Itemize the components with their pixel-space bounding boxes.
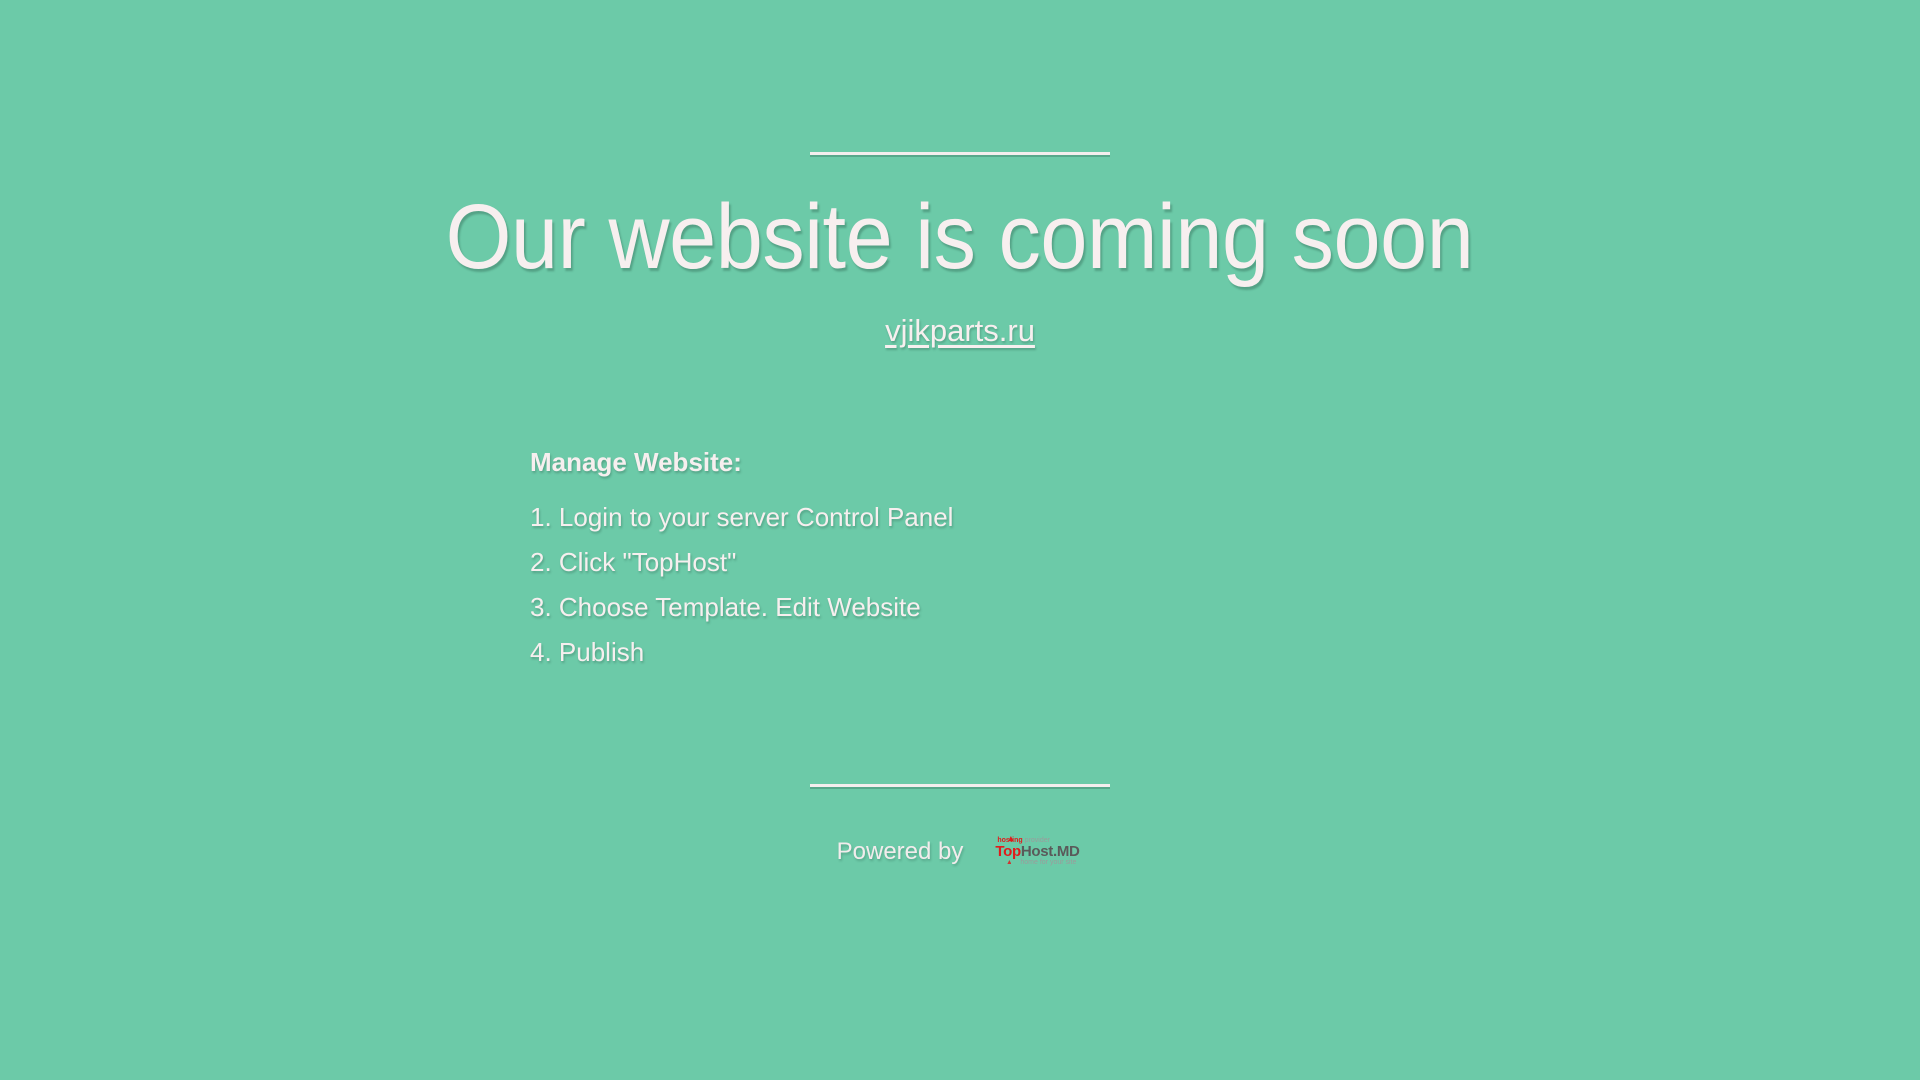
logo-wordmark-host: Host.MD xyxy=(1021,843,1080,860)
tophost-logo[interactable]: hostingprovider TopHost.MD home for your… xyxy=(991,835,1083,869)
divider-bottom xyxy=(810,784,1110,787)
list-item: 4. Publish xyxy=(530,637,953,668)
list-item: 3. Choose Template. Edit Website xyxy=(530,592,953,623)
logo-tagline-bottom: home for your site xyxy=(1020,859,1076,867)
page-title: Our website is coming soon xyxy=(446,191,1474,283)
footer: Powered by hostingprovider TopHost.MD ho… xyxy=(837,835,1084,869)
instructions-title: Manage Website: xyxy=(530,447,742,478)
list-item: 1. Login to your server Control Panel xyxy=(530,502,953,533)
logo-wordmark-top: Top xyxy=(995,843,1020,860)
instructions-block: Manage Website: 1. Login to your server … xyxy=(530,447,1390,668)
divider-top xyxy=(810,152,1110,155)
coming-soon-page: Our website is coming soon vjikparts.ru … xyxy=(0,0,1920,1080)
powered-by-label: Powered by xyxy=(837,838,964,866)
domain-link[interactable]: vjikparts.ru xyxy=(885,313,1035,349)
logo-triangle-small-icon xyxy=(1007,860,1011,864)
logo-wordmark: TopHost.MD xyxy=(995,844,1079,860)
instructions-step-list: 1. Login to your server Control Panel 2.… xyxy=(530,502,953,668)
list-item: 2. Click "TopHost" xyxy=(530,547,953,578)
